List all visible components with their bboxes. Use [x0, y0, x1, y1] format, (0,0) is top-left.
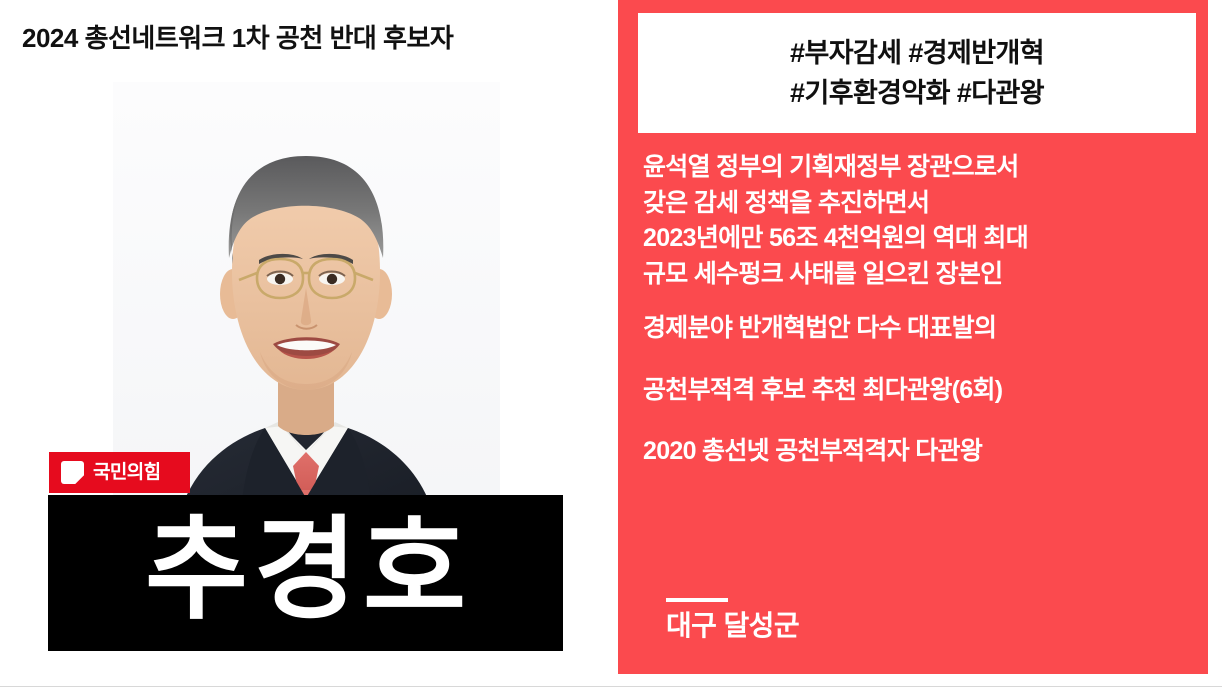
ppp-logo-icon [61, 461, 84, 484]
achievement-list: 경제분야 반개혁법안 다수 대표발의 공천부적격 후보 추천 최다관왕(6회) … [643, 312, 1193, 468]
list-item: 경제분야 반개혁법안 다수 대표발의 [643, 312, 1193, 345]
summary-line: 윤석열 정부의 기획재정부 장관으로서 [643, 150, 1193, 186]
district-block: 대구 달성군 [666, 598, 799, 640]
left-column: 2024 총선네트워크 1차 공천 반대 후보자 [0, 0, 612, 687]
district-divider [666, 598, 728, 602]
hashtag-line-1: #부자감세 #경제반개혁 [790, 35, 1044, 71]
summary-paragraph: 윤석열 정부의 기획재정부 장관으로서 갖은 감세 정책을 추진하면서 2023… [643, 150, 1193, 292]
party-badge: 국민의힘 [49, 452, 190, 493]
poster-canvas: 2024 총선네트워크 1차 공천 반대 후보자 [0, 0, 1222, 687]
candidate-name-band: 추경호 [48, 495, 563, 651]
summary-line: 2023년에만 56조 4천억원의 역대 최대 [643, 221, 1193, 257]
list-item: 공천부적격 후보 추천 최다관왕(6회) [643, 374, 1193, 407]
hashtag-line-2: #기후환경악화 #다관왕 [790, 75, 1044, 111]
list-item: 2020 총선넷 공천부적격자 다관왕 [643, 435, 1193, 468]
summary-line: 규모 세수펑크 사태를 일으킨 장본인 [643, 257, 1193, 293]
party-name-label: 국민의힘 [93, 463, 161, 482]
district-name: 대구 달성군 [666, 612, 799, 640]
info-panel: #부자감세 #경제반개혁 #기후환경악화 #다관왕 윤석열 정부의 기획재정부 … [618, 0, 1208, 674]
hashtag-box: #부자감세 #경제반개혁 #기후환경악화 #다관왕 [638, 13, 1196, 133]
page-title: 2024 총선네트워크 1차 공천 반대 후보자 [22, 18, 602, 55]
panel-body: 윤석열 정부의 기획재정부 장관으로서 갖은 감세 정책을 추진하면서 2023… [643, 150, 1193, 497]
summary-line: 갖은 감세 정책을 추진하면서 [643, 186, 1193, 222]
candidate-name: 추경호 [139, 514, 472, 626]
